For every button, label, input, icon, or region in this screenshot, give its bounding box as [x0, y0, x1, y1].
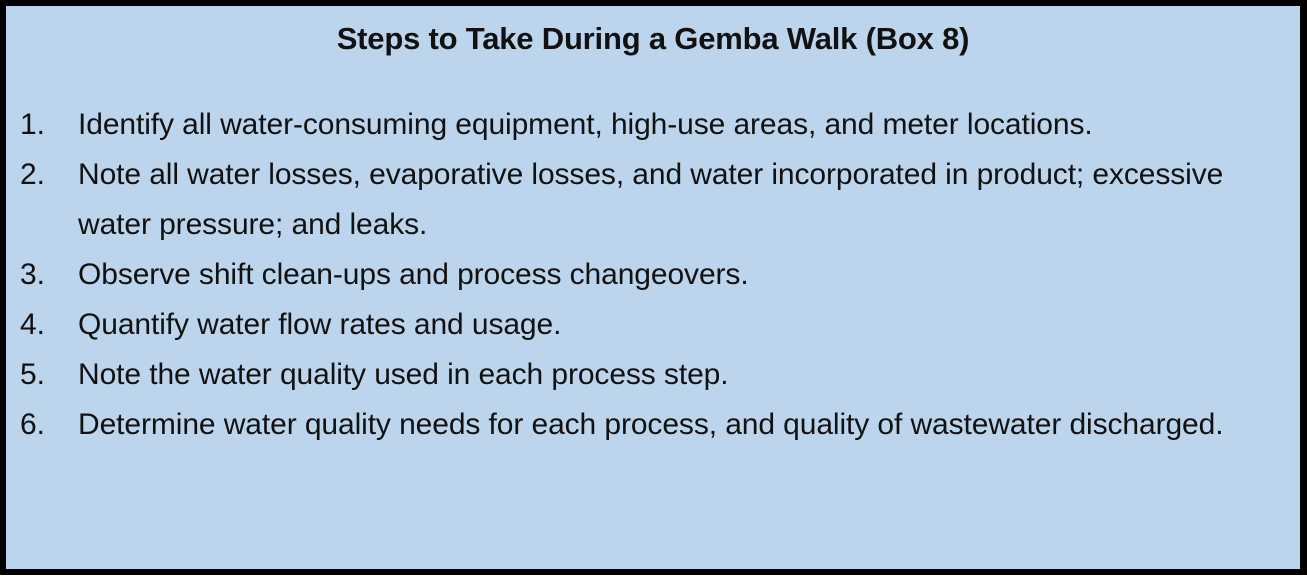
list-item-number: 2.	[6, 150, 78, 200]
callout-box: Steps to Take During a Gemba Walk (Box 8…	[0, 0, 1307, 575]
list-item-number: 3.	[6, 250, 78, 300]
list-item-number: 5.	[6, 350, 78, 400]
list-item-text: Note the water quality used in each proc…	[78, 350, 1300, 400]
box-title: Steps to Take During a Gemba Walk (Box 8…	[6, 20, 1300, 58]
list-item-number: 1.	[6, 100, 78, 150]
list-item: 6.Determine water quality needs for each…	[6, 400, 1300, 450]
list-item: 5.Note the water quality used in each pr…	[6, 350, 1300, 400]
list-item: 4.Quantify water flow rates and usage.	[6, 300, 1300, 350]
list-item-text: Determine water quality needs for each p…	[78, 400, 1300, 450]
list-item-number: 4.	[6, 300, 78, 350]
steps-list: 1.Identify all water-consuming equipment…	[6, 100, 1300, 450]
list-item-text: Note all water losses, evaporative losse…	[78, 150, 1300, 250]
list-item-text: Observe shift clean-ups and process chan…	[78, 250, 1300, 300]
list-item-number: 6.	[6, 400, 78, 450]
list-item: 2.Note all water losses, evaporative los…	[6, 150, 1300, 250]
list-item-text: Quantify water flow rates and usage.	[78, 300, 1300, 350]
list-item: 1.Identify all water-consuming equipment…	[6, 100, 1300, 150]
list-item: 3.Observe shift clean-ups and process ch…	[6, 250, 1300, 300]
list-item-text: Identify all water-consuming equipment, …	[78, 100, 1300, 150]
